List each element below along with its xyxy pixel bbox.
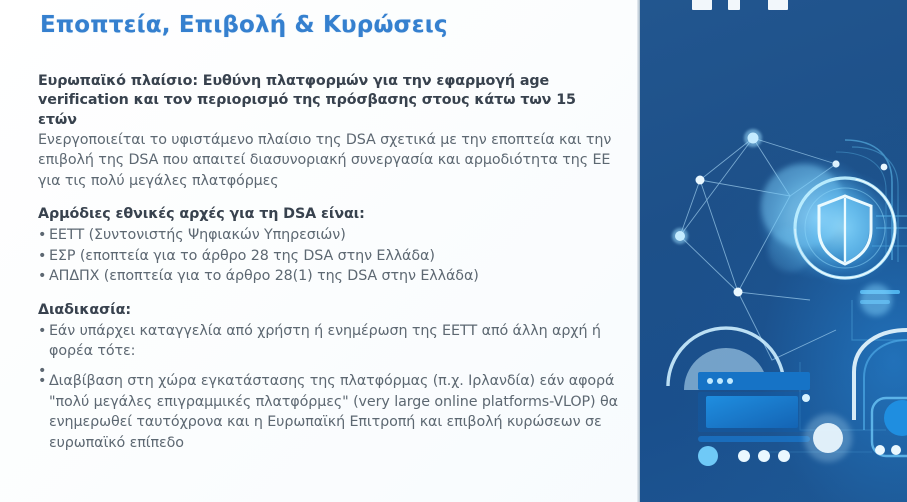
graphic-panel: [640, 0, 907, 502]
european-framework-lead: Ευρωπαϊκό πλαίσιο: Ευθύνη πλατφορμών για…: [38, 72, 618, 130]
block-authorities: Αρμόδιες εθνικές αρχές για τη DSA είναι:…: [38, 204, 618, 286]
procedure-heading: Διαδικασία:: [38, 300, 618, 320]
list-item: ΕΕΤΤ (Συντονιστής Ψηφιακών Υπηρεσιών): [38, 225, 618, 245]
page-title: Εποπτεία, Επιβολή & Κυρώσεις: [40, 12, 448, 38]
authorities-heading: Αρμόδιες εθνικές αρχές για τη DSA είναι:: [38, 204, 618, 224]
slide: Εποπτεία, Επιβολή & Κυρώσεις Ευρωπαϊκό π…: [0, 0, 907, 502]
list-item: ΑΠΔΠΧ (εποπτεία για το άρθρο 28(1) της D…: [38, 266, 618, 286]
authorities-list: ΕΕΤΤ (Συντονιστής Ψηφιακών Υπηρεσιών) ΕΣ…: [38, 225, 618, 286]
shield-icon: [787, 170, 903, 286]
device-module-icon: [804, 290, 907, 462]
list-item: Διαβίβαση στη χώρα εγκατάστασης της πλατ…: [38, 371, 618, 453]
list-spacer: [38, 361, 618, 371]
body-blocks: Ευρωπαϊκό πλαίσιο: Ευθύνη πλατφορμών για…: [38, 72, 618, 466]
european-framework-paragraph: Ενεργοποιείται το υφιστάμενο πλαίσιο της…: [38, 130, 618, 191]
list-item: Εάν υπάρχει καταγγελία από χρήστη ή ενημ…: [38, 321, 618, 362]
procedure-list: Εάν υπάρχει καταγγελία από χρήστη ή ενημ…: [38, 321, 618, 454]
list-item: ΕΣΡ (εποπτεία για το άρθρο 28 της DSA στ…: [38, 246, 618, 266]
content-column: Εποπτεία, Επιβολή & Κυρώσεις Ευρωπαϊκό π…: [0, 0, 637, 502]
block-european-framework: Ευρωπαϊκό πλαίσιο: Ευθύνη πλατφορμών για…: [38, 72, 618, 191]
block-procedure: Διαδικασία: Εάν υπάρχει καταγγελία από χ…: [38, 300, 618, 454]
cybersecurity-illustration: [640, 0, 907, 502]
